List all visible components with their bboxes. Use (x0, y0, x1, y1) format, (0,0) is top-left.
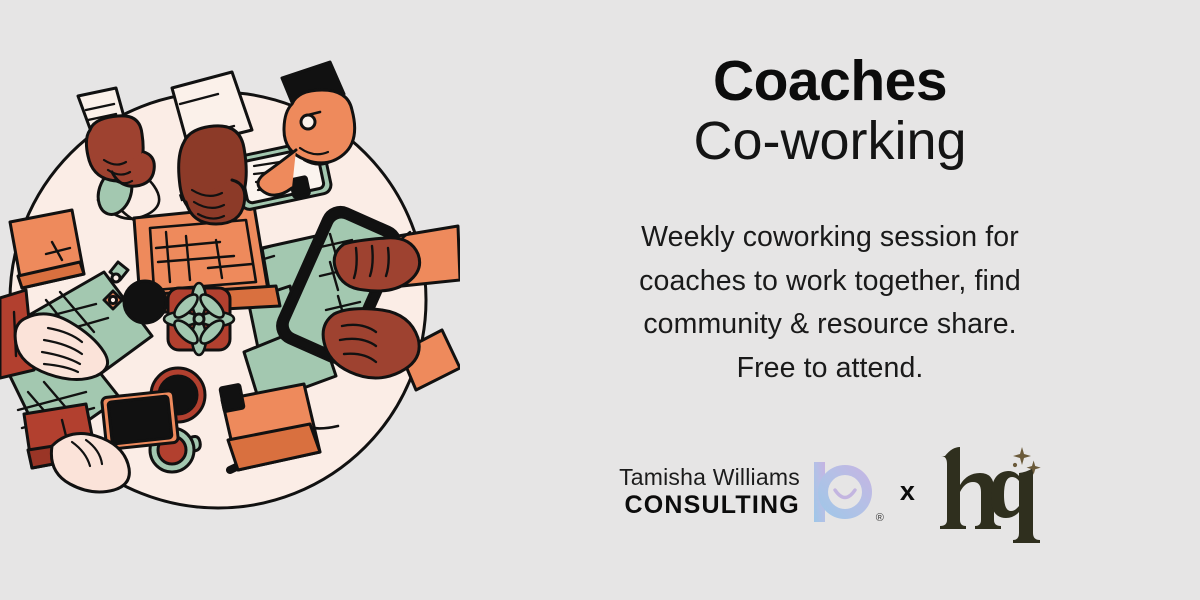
coworking-table-illustration (0, 0, 460, 600)
description-line-1: Weekly coworking session for (460, 216, 1200, 260)
event-description: Weekly coworking session for coaches to … (460, 216, 1200, 390)
tamisha-williams-consulting-logo: Tamisha Williams CONSULTING (619, 458, 874, 526)
tw-wordmark: Tamisha Williams CONSULTING (619, 464, 800, 521)
content-pane: Coaches Co-working Weekly coworking sess… (460, 0, 1200, 600)
registered-trademark-icon: ® (876, 512, 884, 524)
tw-name-text: Tamisha Williams (619, 464, 800, 491)
hq-sparkle-logo-icon (935, 440, 1041, 544)
potted-plant (164, 283, 234, 355)
black-sphere (124, 281, 166, 323)
collaboration-separator: x (900, 476, 915, 509)
description-line-3: community & resource share. (460, 303, 1200, 347)
event-banner: Coaches Co-working Weekly coworking sess… (0, 0, 1200, 600)
title-secondary: Co-working (460, 111, 1200, 171)
description-line-4: Free to attend. (460, 347, 1200, 391)
hand-cream-sleeve-laptop (172, 72, 252, 224)
smiley-circle-logo-icon: ® (808, 458, 874, 526)
tw-consulting-text: CONSULTING (619, 490, 800, 520)
title-primary: Coaches (460, 52, 1200, 111)
page-title: Coaches Co-working (460, 52, 1200, 172)
smartphone (101, 390, 178, 449)
notebook-orange-left (10, 210, 84, 288)
description-line-2: coaches to work together, find (460, 260, 1200, 304)
logo-row: Tamisha Williams CONSULTING (460, 432, 1200, 552)
